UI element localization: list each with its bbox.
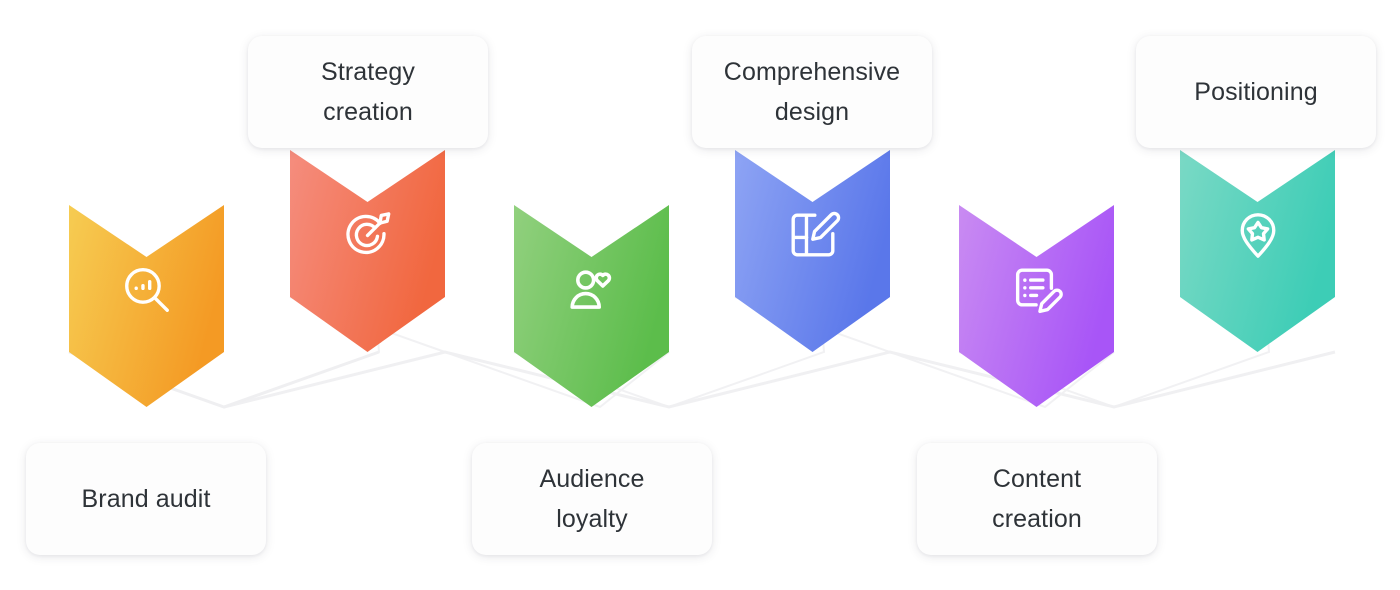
step-label-text-5: Content creation — [992, 459, 1082, 539]
step-label-card-1[interactable]: Brand audit — [26, 443, 266, 555]
step-label-card-4[interactable]: Comprehensive design — [692, 36, 932, 148]
step-label-card-2[interactable]: Strategy creation — [248, 36, 488, 148]
process-infographic: Brand audit Strategy creation Audience l… — [0, 0, 1400, 590]
step-label-text-4: Comprehensive design — [724, 52, 900, 132]
step-label-text-3: Audience loyalty — [539, 459, 644, 539]
step-label-text-1: Brand audit — [82, 479, 211, 519]
step-banner-4[interactable] — [735, 150, 890, 352]
step-label-text-6: Positioning — [1194, 72, 1317, 112]
step-banner-3[interactable] — [514, 205, 669, 407]
step-banner-2[interactable] — [290, 150, 445, 352]
step-label-card-6[interactable]: Positioning — [1136, 36, 1376, 148]
step-label-text-2: Strategy creation — [321, 52, 415, 132]
step-banner-5[interactable] — [959, 205, 1114, 407]
step-label-card-3[interactable]: Audience loyalty — [472, 443, 712, 555]
step-banner-6[interactable] — [1180, 150, 1335, 352]
step-banner-1[interactable] — [69, 205, 224, 407]
step-label-card-5[interactable]: Content creation — [917, 443, 1157, 555]
